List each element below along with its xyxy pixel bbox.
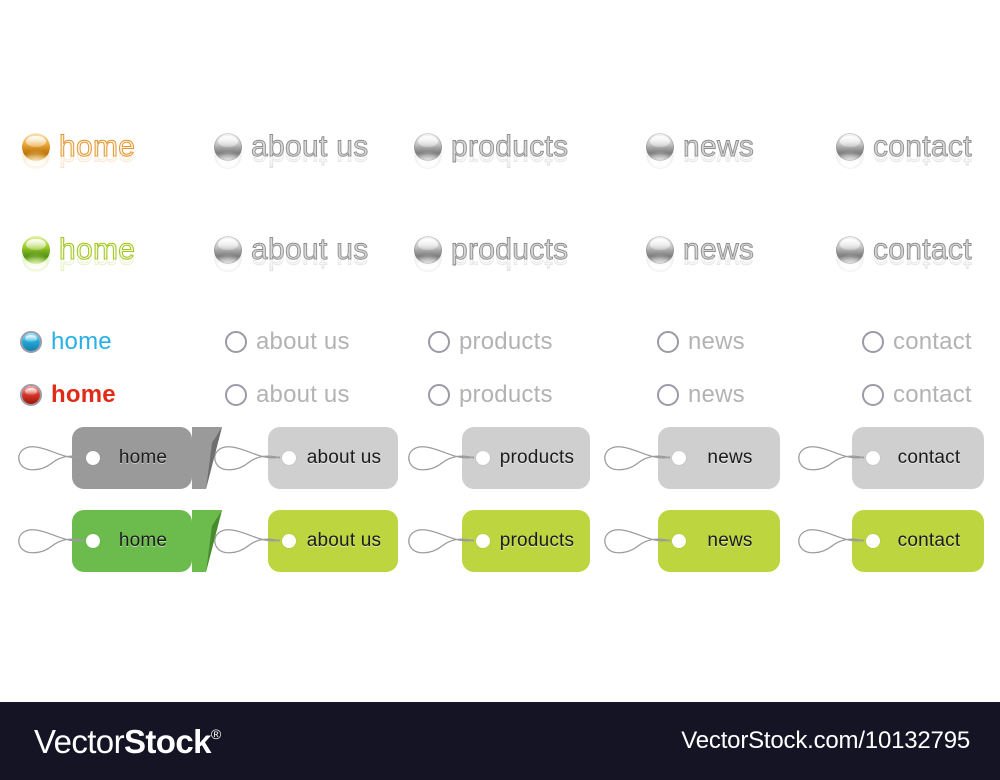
tag-hole-icon [672,534,686,548]
orb-grey-icon [214,236,242,264]
nav-item-label: news [688,328,745,356]
nav-row-tag-green: home about us products [0,510,1000,590]
nav-item-label: news [683,235,754,265]
tag-label: news [685,530,752,552]
registered-mark-icon: ® [211,727,221,741]
nav-item-contact[interactable]: contact contact [836,124,972,170]
orb-grey-icon [414,236,442,264]
nav-row-ring-red: home about us products news contact [0,378,1000,418]
nav-item-label: products [459,328,553,356]
nav-item-label: home [59,132,135,162]
tag-body[interactable]: news [658,427,780,489]
tag-hole-icon [86,534,100,548]
tag-label: contact [876,530,961,552]
tag-item-news[interactable]: news [602,510,792,582]
orb-grey-icon [214,133,242,161]
nav-item-about-us[interactable]: about us [225,378,350,412]
nav-item-label: about us [256,381,350,409]
nav-item-label: home [51,328,112,356]
artboard: home home about us about us products pro… [0,0,1000,780]
tag-hole-icon [86,451,100,465]
tag-fold-icon [192,427,226,489]
tag-body[interactable]: products [462,510,590,572]
nav-item-news[interactable]: news [657,325,745,359]
nav-item-contact[interactable]: contact [862,378,972,412]
nav-item-news[interactable]: news news [646,227,754,273]
nav-row-orb-green: home home about us about us products pro… [0,227,1000,317]
tag-label: products [478,530,574,552]
vectorstock-logo: VectorStock® [34,725,221,758]
ring-hollow-icon [225,331,247,353]
tag-label: contact [876,447,961,469]
orb-grey-icon [646,133,674,161]
tag-item-home[interactable]: home [16,510,206,582]
tag-item-news[interactable]: news [602,427,792,499]
ring-hollow-icon [862,384,884,406]
nav-item-label: contact [873,235,972,265]
nav-row-orb-orange: home home about us about us products pro… [0,124,1000,214]
tag-body[interactable]: home [72,427,192,489]
tag-item-products[interactable]: products [406,510,596,582]
tag-body[interactable]: about us [268,510,398,572]
ring-hollow-icon [428,384,450,406]
orb-green-icon [22,236,50,264]
nav-item-about-us[interactable]: about us [225,325,350,359]
tag-label: home [97,530,167,552]
nav-item-news[interactable]: news news [646,124,754,170]
tag-fold-icon [192,510,226,572]
footer-bar: VectorStock® VectorStock.com/10132795 [0,702,1000,780]
nav-row-tag-grey: home about us products [0,427,1000,507]
tag-label: news [685,447,752,469]
tag-hole-icon [282,451,296,465]
nav-item-contact[interactable]: contact [862,325,972,359]
nav-item-products[interactable]: products products [414,124,568,170]
tag-body[interactable]: contact [852,427,984,489]
nav-item-label: news [688,381,745,409]
orb-grey-icon [646,236,674,264]
orb-grey-icon [414,133,442,161]
ring-hollow-icon [428,331,450,353]
nav-item-products[interactable]: products [428,325,553,359]
nav-item-about-us[interactable]: about us about us [214,124,369,170]
nav-item-label: contact [893,328,972,356]
tag-item-home[interactable]: home [16,427,206,499]
orb-grey-icon [836,133,864,161]
footer-url: VectorStock.com/10132795 [681,727,970,755]
ring-hollow-icon [657,384,679,406]
nav-item-news[interactable]: news [657,378,745,412]
nav-item-label: about us [251,132,369,162]
nav-item-home[interactable]: home [20,325,112,359]
ring-hollow-icon [657,331,679,353]
ring-hollow-icon [225,384,247,406]
tag-hole-icon [866,534,880,548]
tag-hole-icon [282,534,296,548]
ring-hollow-icon [862,331,884,353]
tag-label: about us [285,530,382,552]
nav-item-label: products [451,235,568,265]
tag-body[interactable]: contact [852,510,984,572]
tag-body[interactable]: news [658,510,780,572]
nav-item-label: about us [251,235,369,265]
bead-red-icon [20,384,42,406]
nav-item-label: home [59,235,135,265]
orb-grey-icon [836,236,864,264]
tag-hole-icon [866,451,880,465]
tag-hole-icon [476,451,490,465]
nav-item-home[interactable]: home home [22,124,135,170]
bead-blue-icon [20,331,42,353]
nav-item-label: contact [873,132,972,162]
tag-hole-icon [476,534,490,548]
nav-item-label: news [683,132,754,162]
nav-item-contact[interactable]: contact contact [836,227,972,273]
nav-item-products[interactable]: products [428,378,553,412]
tag-body[interactable]: about us [268,427,398,489]
nav-item-products[interactable]: products products [414,227,568,273]
tag-hole-icon [672,451,686,465]
nav-row-ring-blue: home about us products news contact [0,325,1000,365]
tag-item-about-us[interactable]: about us [212,510,402,582]
tag-item-contact[interactable]: contact [796,510,986,582]
tag-item-contact[interactable]: contact [796,427,986,499]
tag-label: home [97,447,167,469]
nav-item-label: about us [256,328,350,356]
orb-orange-icon [22,133,50,161]
nav-item-home[interactable]: home home [22,227,135,273]
brand-part-2: Stock [124,725,211,758]
tag-label: products [478,447,574,469]
brand-part-1: Vector [34,725,124,758]
nav-item-label: home [51,381,116,409]
tag-item-about-us[interactable]: about us [212,427,402,499]
tag-body[interactable]: home [72,510,192,572]
nav-item-home[interactable]: home [20,378,116,412]
tag-label: about us [285,447,382,469]
nav-item-label: products [459,381,553,409]
nav-item-label: contact [893,381,972,409]
nav-item-label: products [451,132,568,162]
tag-item-products[interactable]: products [406,427,596,499]
nav-item-about-us[interactable]: about us about us [214,227,369,273]
tag-body[interactable]: products [462,427,590,489]
